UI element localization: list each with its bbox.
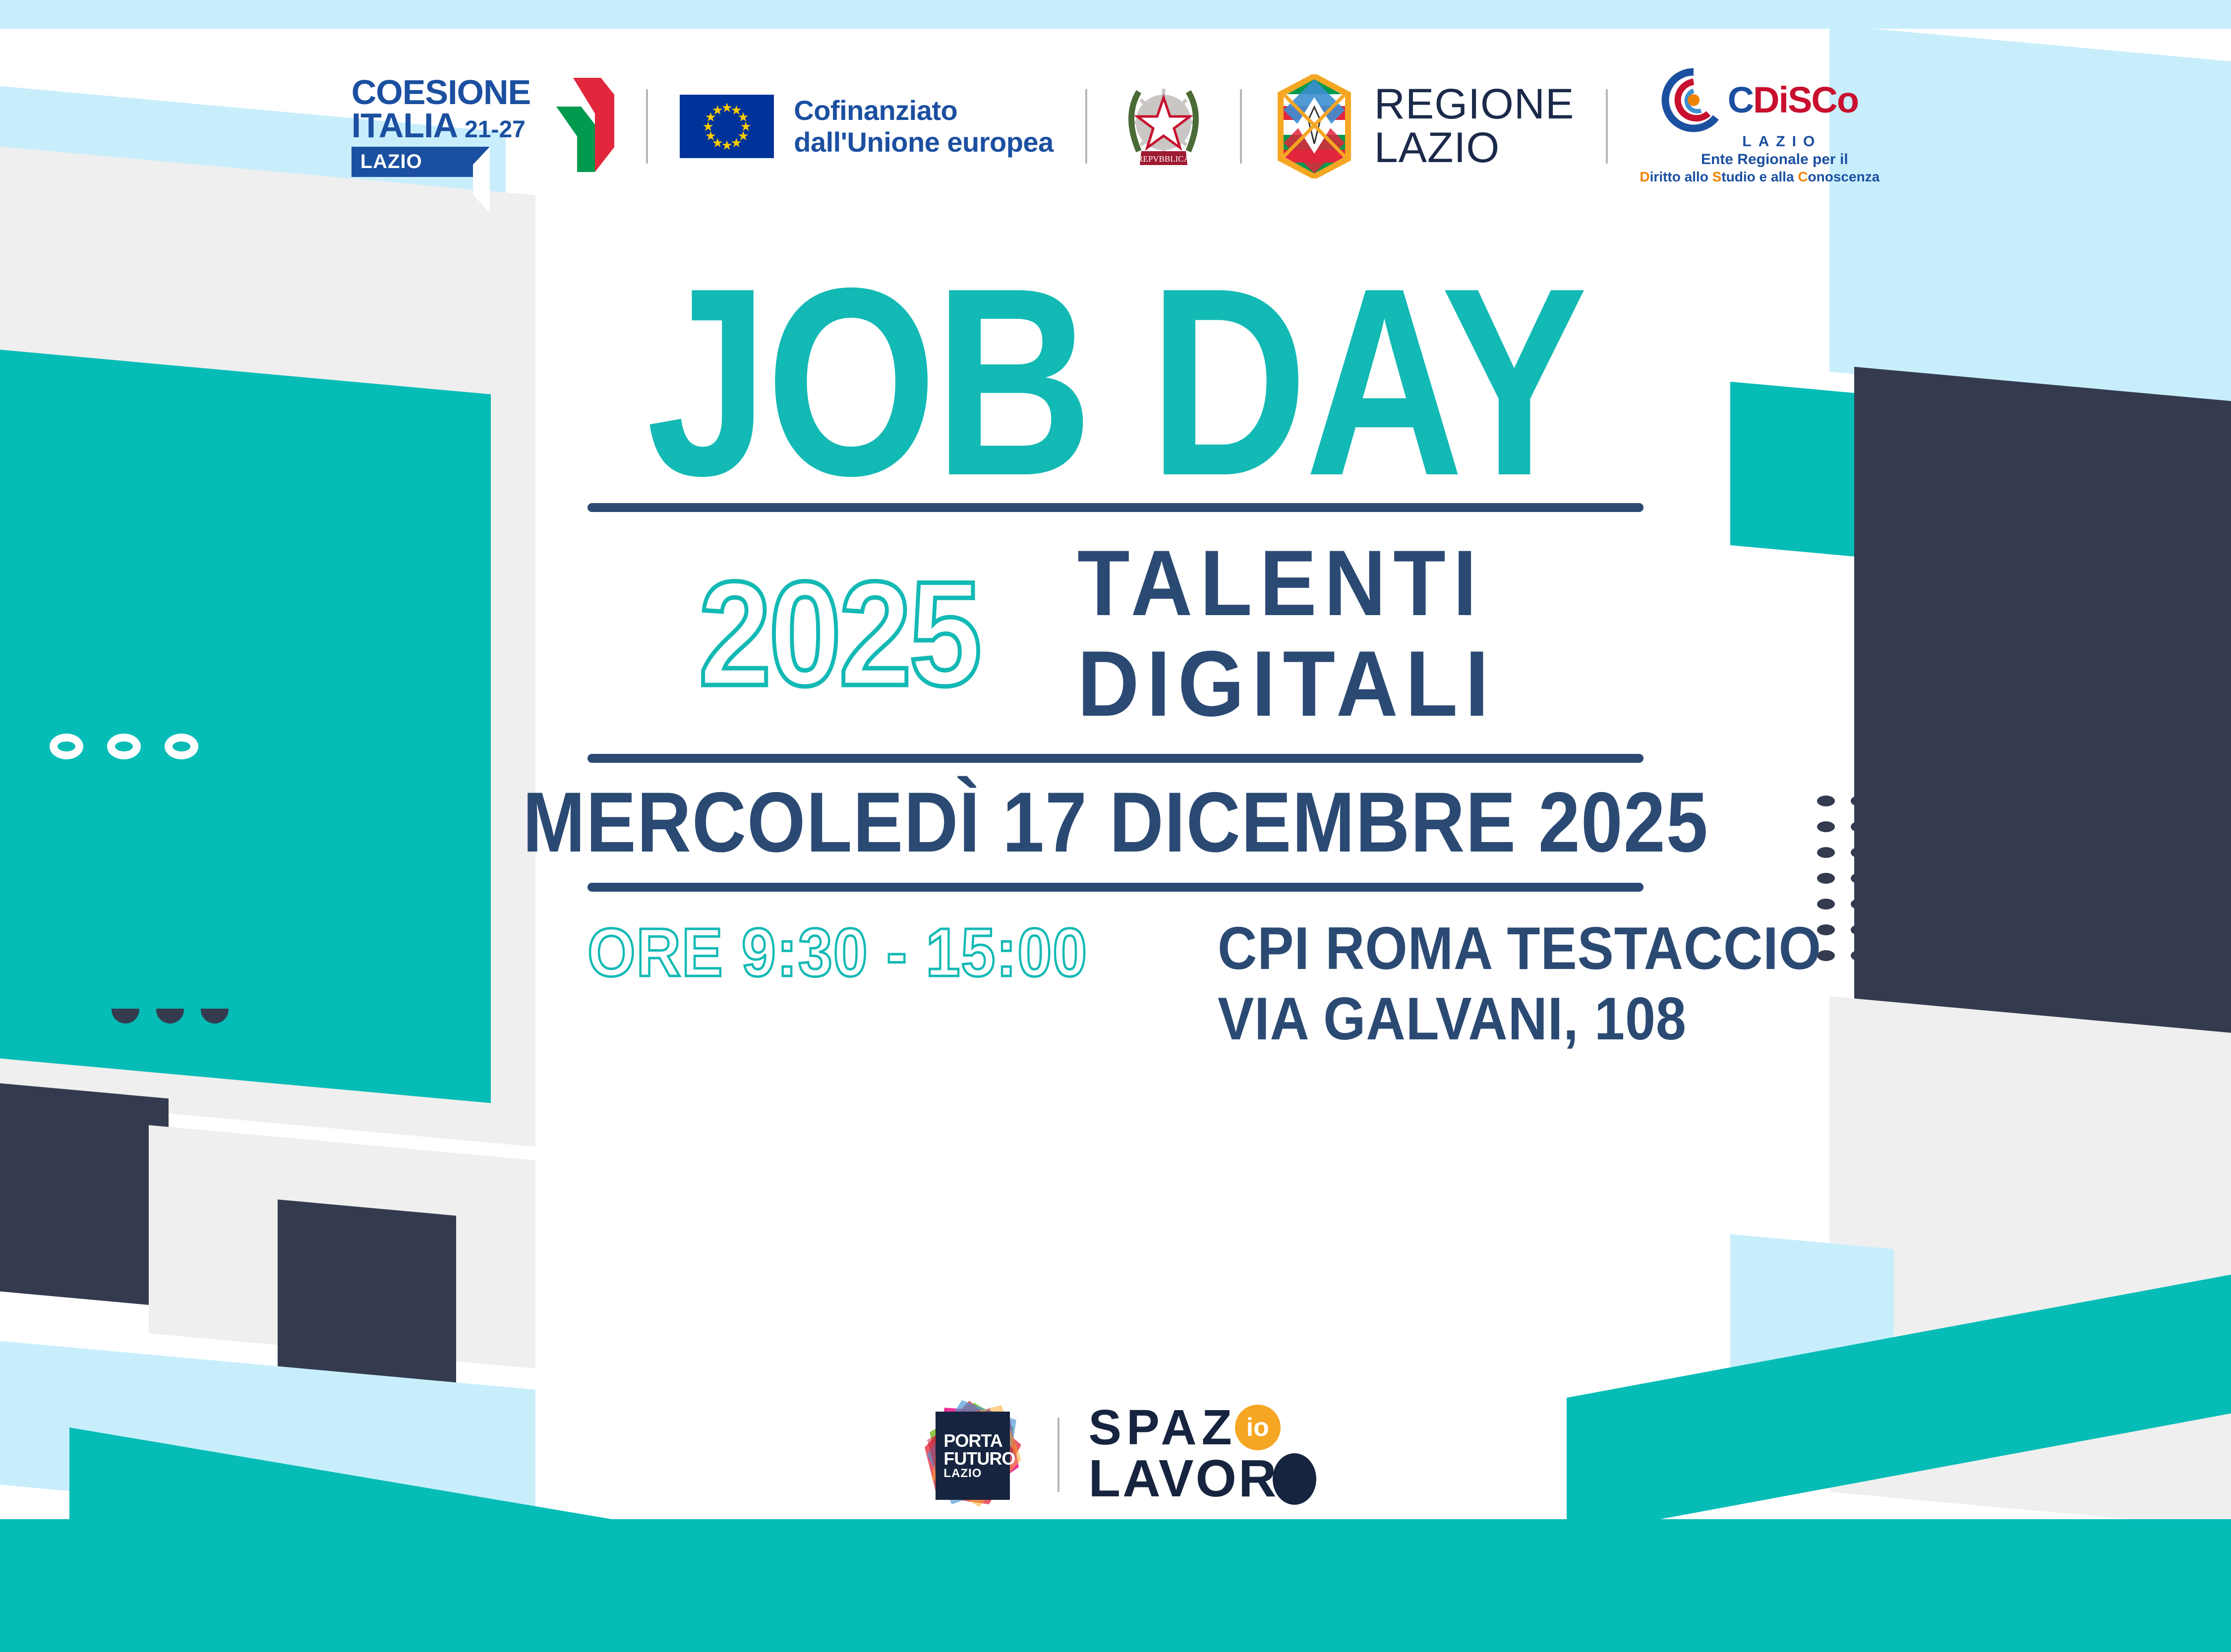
logo-coesione-italia: COESIONE ITALIA 21-27 LAZIO: [352, 76, 615, 177]
logo-repubblica-italiana: REPVBBLICA: [1119, 77, 1208, 176]
disco-wordmark: CDiSCo: [1728, 82, 1858, 118]
logo-spazio-lavoro: SPAZ io LAVOR: [1088, 1405, 1316, 1505]
logo-regione-lazio: REGIONE LAZIO: [1274, 74, 1575, 178]
left-dark-block-upper: [0, 1081, 169, 1307]
logo-european-union: ★★★★★★★★★★★★ Cofinanziato dall'Unione eu…: [680, 95, 1053, 159]
regione-line1: REGIONE: [1374, 83, 1575, 126]
spazio-top-text: SPAZ: [1088, 1405, 1236, 1450]
coesione-years: 21-27: [465, 118, 526, 142]
porta-futuro-line1: PORTA: [943, 1432, 1002, 1450]
porta-futuro-line2: FUTURO: [943, 1450, 1015, 1468]
disco-ente-label: Ente Regionale per il: [1701, 151, 1848, 168]
regione-lazio-text: REGIONE LAZIO: [1374, 83, 1575, 170]
institutional-logo-strip: COESIONE ITALIA 21-27 LAZIO ★★★★★★★★★★★★…: [0, 55, 2231, 198]
disco-tagline-part: C: [1798, 169, 1808, 184]
divider-rule-3: [587, 883, 1644, 892]
footer-teal-band: [0, 1519, 2231, 1652]
page-title: JOB DAY: [646, 278, 1585, 486]
disco-tagline-part: tudio e alla: [1721, 169, 1798, 184]
coesione-region-badge: LAZIO: [352, 147, 489, 177]
footer-logo-divider: [1057, 1418, 1059, 1492]
coesione-line2: ITALIA: [352, 109, 458, 142]
disco-lazio-label: LAZIO: [1742, 133, 1821, 150]
logo-divider: [646, 89, 648, 164]
regione-lazio-shield-icon: [1274, 74, 1355, 178]
disco-tagline-part: onoscenza: [1808, 169, 1880, 184]
event-time: ORE 9:30 - 15:00: [587, 913, 1088, 987]
spazio-bottom-text: LAVOR: [1088, 1455, 1278, 1502]
venue-line-1: CPI ROMA TESTACCIO: [1218, 913, 1821, 984]
eu-line1: Cofinanziato: [794, 95, 1053, 126]
spazio-top-row: SPAZ io: [1088, 1405, 1316, 1450]
coesione-text: COESIONE ITALIA 21-27 LAZIO: [352, 76, 531, 177]
coesione-line2-row: ITALIA 21-27: [352, 109, 531, 142]
poster-subtitle: TALENTI DIGITALI: [1077, 533, 1532, 734]
disco-tagline-part: iritto allo: [1650, 169, 1712, 184]
disco-brand-initial: C: [1728, 79, 1753, 120]
disco-diritto-label: Diritto allo Studio e alla Conoscenza: [1640, 169, 1879, 185]
subtitle-line-1: TALENTI: [1077, 533, 1484, 633]
porta-futuro-card: PORTA FUTURO LAZIO: [936, 1412, 1010, 1500]
event-venue: CPI ROMA TESTACCIO VIA GALVANI, 108: [1218, 913, 1888, 1054]
disco-brand-row: CDiSCo: [1661, 68, 1858, 132]
eu-flag-icon: ★★★★★★★★★★★★: [680, 95, 774, 158]
partner-logo-strip: PORTA FUTURO LAZIO SPAZ io LAVOR: [0, 1398, 2231, 1512]
time-venue-row: ORE 9:30 - 15:00 CPI ROMA TESTACCIO VIA …: [587, 913, 1644, 1054]
subtitle-line-2: DIGITALI: [1077, 633, 1496, 734]
poster-main-content: JOB DAY 2025 TALENTI DIGITALI MERCOLEDÌ …: [0, 278, 2231, 1054]
logo-divider: [1240, 89, 1242, 164]
disco-tagline-part: D: [1640, 169, 1649, 184]
logo-porta-futuro-lazio: PORTA FUTURO LAZIO: [915, 1398, 1029, 1512]
eu-star-icon: ★: [712, 104, 723, 116]
spazio-io-badge: io: [1235, 1405, 1281, 1450]
top-blue-band: [0, 0, 2231, 29]
poster-canvas: COESIONE ITALIA 21-27 LAZIO ★★★★★★★★★★★★…: [0, 0, 2231, 1652]
coesione-line1: COESIONE: [352, 76, 531, 109]
poster-year: 2025: [699, 570, 979, 697]
disco-target-icon: [1661, 68, 1726, 132]
event-date: MERCOLEDÌ 17 DICEMBRE 2025: [523, 780, 1708, 865]
eu-line2: dall'Unione europea: [794, 126, 1053, 158]
spazio-o-dot-icon: [1273, 1453, 1316, 1505]
logo-divider: [1085, 89, 1087, 164]
eu-cofunding-text: Cofinanziato dall'Unione europea: [794, 95, 1053, 159]
year-subtitle-row: 2025 TALENTI DIGITALI: [587, 533, 1644, 734]
svg-text:REPVBBLICA: REPVBBLICA: [1137, 154, 1190, 164]
regione-line2: LAZIO: [1374, 126, 1575, 170]
venue-line-2: VIA GALVANI, 108: [1218, 984, 1821, 1054]
porta-futuro-line3: LAZIO: [943, 1468, 982, 1480]
logo-divider: [1606, 89, 1608, 164]
divider-rule-2: [587, 754, 1644, 763]
coesione-arrow-icon: [537, 78, 614, 177]
disco-tagline-part: S: [1712, 169, 1722, 184]
logo-disco-lazio: CDiSCo LAZIO Ente Regionale per il Dirit…: [1640, 68, 1879, 185]
spazio-bottom-row: LAVOR: [1088, 1453, 1316, 1505]
disco-brand-text: DiSCo: [1753, 79, 1858, 120]
